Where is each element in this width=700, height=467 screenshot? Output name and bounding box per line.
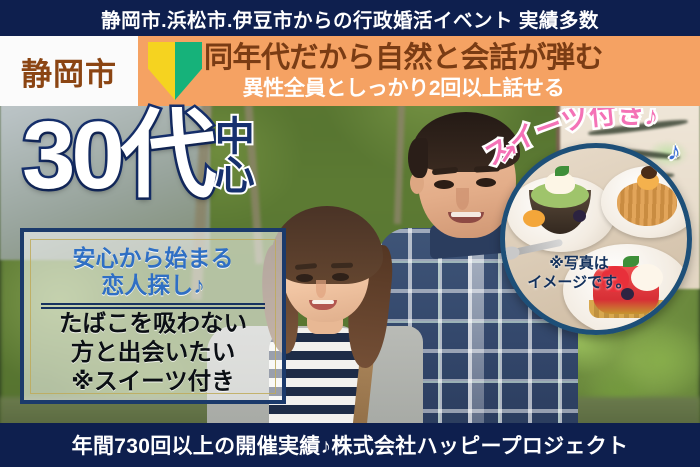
age-sub-char-1: 中 — [215, 118, 255, 157]
top-banner-bar: 静岡市.浜松市.伊豆市からの行政婚活イベント 実績多数 — [0, 0, 700, 36]
city-label: 静岡市 — [21, 49, 117, 94]
leaf-icon-right-half — [175, 42, 202, 100]
man-nose — [456, 188, 469, 210]
sweets-disclaimer-line-2: イメージです。 — [524, 274, 634, 293]
info-black-line-1: たばこを吸わない — [59, 309, 247, 338]
info-box: 安心から始まる 恋人探し♪ たばこを吸わない 方と出会いたい ※スイーツ付き — [20, 228, 286, 404]
tart-cream — [631, 264, 663, 291]
blueberry — [573, 210, 586, 222]
info-black-line-2: 方と出会いたい — [71, 338, 236, 367]
sweets-disclaimer: ※写真は イメージです。 — [524, 255, 634, 293]
woman-eye — [332, 273, 349, 281]
man-eye — [434, 180, 454, 189]
woman-eyebrow — [331, 263, 353, 269]
arrow-up-icon: ↗ — [495, 138, 521, 164]
age-sub-text: 中 心 — [215, 118, 255, 196]
woman-eye — [296, 274, 313, 282]
city-label-panel: 静岡市 — [0, 36, 138, 106]
advertisement-banner: 静岡市.浜松市.伊豆市からの行政婚活イベント 実績多数 静岡市 同年代だから自然… — [0, 0, 700, 467]
leaf-icon-left-half — [148, 42, 175, 100]
info-black-line-3: ※スイーツ付き — [71, 367, 234, 396]
woman-hair — [271, 206, 383, 284]
headline-main: 同年代だから自然と会話が弾む — [204, 44, 603, 73]
man-shirt-placket — [468, 246, 484, 446]
orange-slice — [523, 210, 545, 227]
sweets-disclaimer-line-1: ※写真は — [524, 255, 634, 274]
shoshinsha-leaf-icon — [146, 40, 202, 102]
age-main-text: 30代 — [22, 112, 213, 200]
headline-panel: 同年代だから自然と会話が弾む 異性全員としっかり2回以上話せる — [138, 36, 700, 106]
age-sub-char-2: 心 — [215, 157, 255, 196]
top-banner-text: 静岡市.浜松市.伊豆市からの行政婚活イベント 実績多数 — [101, 4, 599, 33]
man-eye — [476, 178, 496, 187]
age-callout: 30代 中 心 — [22, 112, 255, 200]
bottom-banner-text: 年間730回以上の開催実績♪株式会社ハッピープロジェクト — [72, 430, 629, 460]
info-box-inner: 安心から始まる 恋人探し♪ たばこを吸わない 方と出会いたい ※スイーツ付き — [30, 239, 276, 394]
headline-texts: 同年代だから自然と会話が弾む 異性全員としっかり2回以上話せる — [204, 44, 603, 99]
header-band: 静岡市 同年代だから自然と会話が弾む 異性全員としっかり2回以上話せる — [0, 36, 700, 106]
info-blue-line-1: 安心から始まる — [73, 245, 234, 272]
headline-sub: 異性全員としっかり2回以上話せる — [204, 78, 603, 99]
bottom-banner-bar: 年間730回以上の開催実績♪株式会社ハッピープロジェクト — [0, 423, 700, 467]
woman-nose — [316, 280, 326, 298]
info-blue-line-2: 恋人探し♪ — [101, 272, 205, 299]
